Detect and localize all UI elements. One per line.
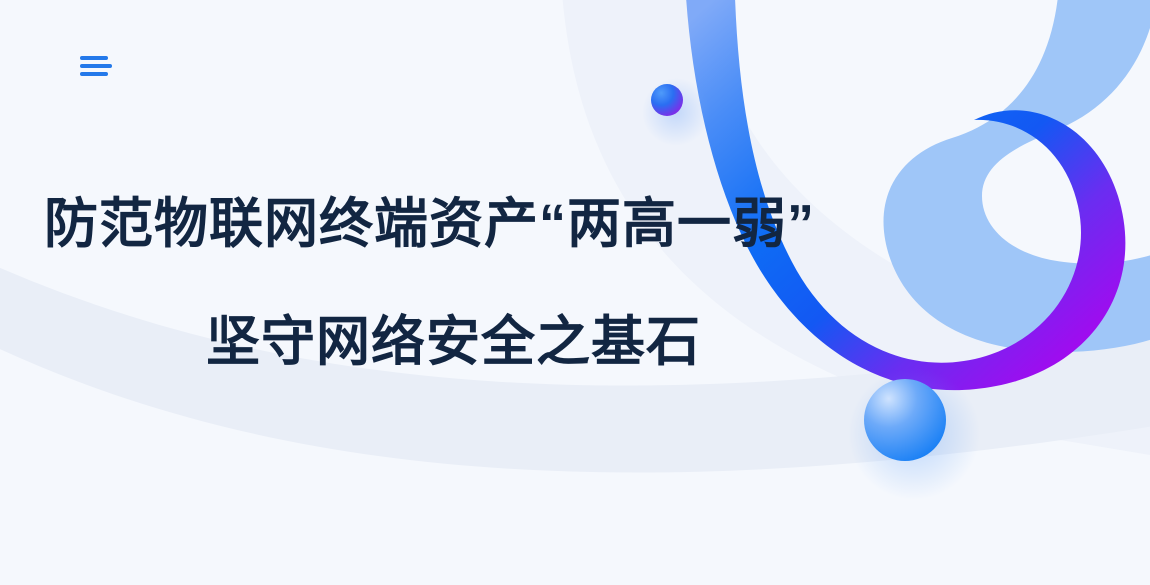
small-gradient-sphere <box>651 84 683 116</box>
large-sphere-glow <box>848 368 980 500</box>
slide-title-block: 防范物联网终端资产“两高一弱” 坚守网络安全之基石 <box>0 190 1150 376</box>
small-sphere-glow <box>642 78 710 146</box>
hamburger-bar-bottom <box>80 72 108 76</box>
hamburger-bar-middle <box>80 64 112 68</box>
large-gradient-sphere <box>864 379 946 461</box>
slide-title-line-1: 防范物联网终端资产“两高一弱” <box>44 190 1150 258</box>
hamburger-menu-icon[interactable] <box>80 48 120 84</box>
slide-title-line-2: 坚守网络安全之基石 <box>206 308 1150 376</box>
presentation-slide: 防范物联网终端资产“两高一弱” 坚守网络安全之基石 <box>0 0 1150 585</box>
hamburger-bar-top <box>80 56 108 60</box>
